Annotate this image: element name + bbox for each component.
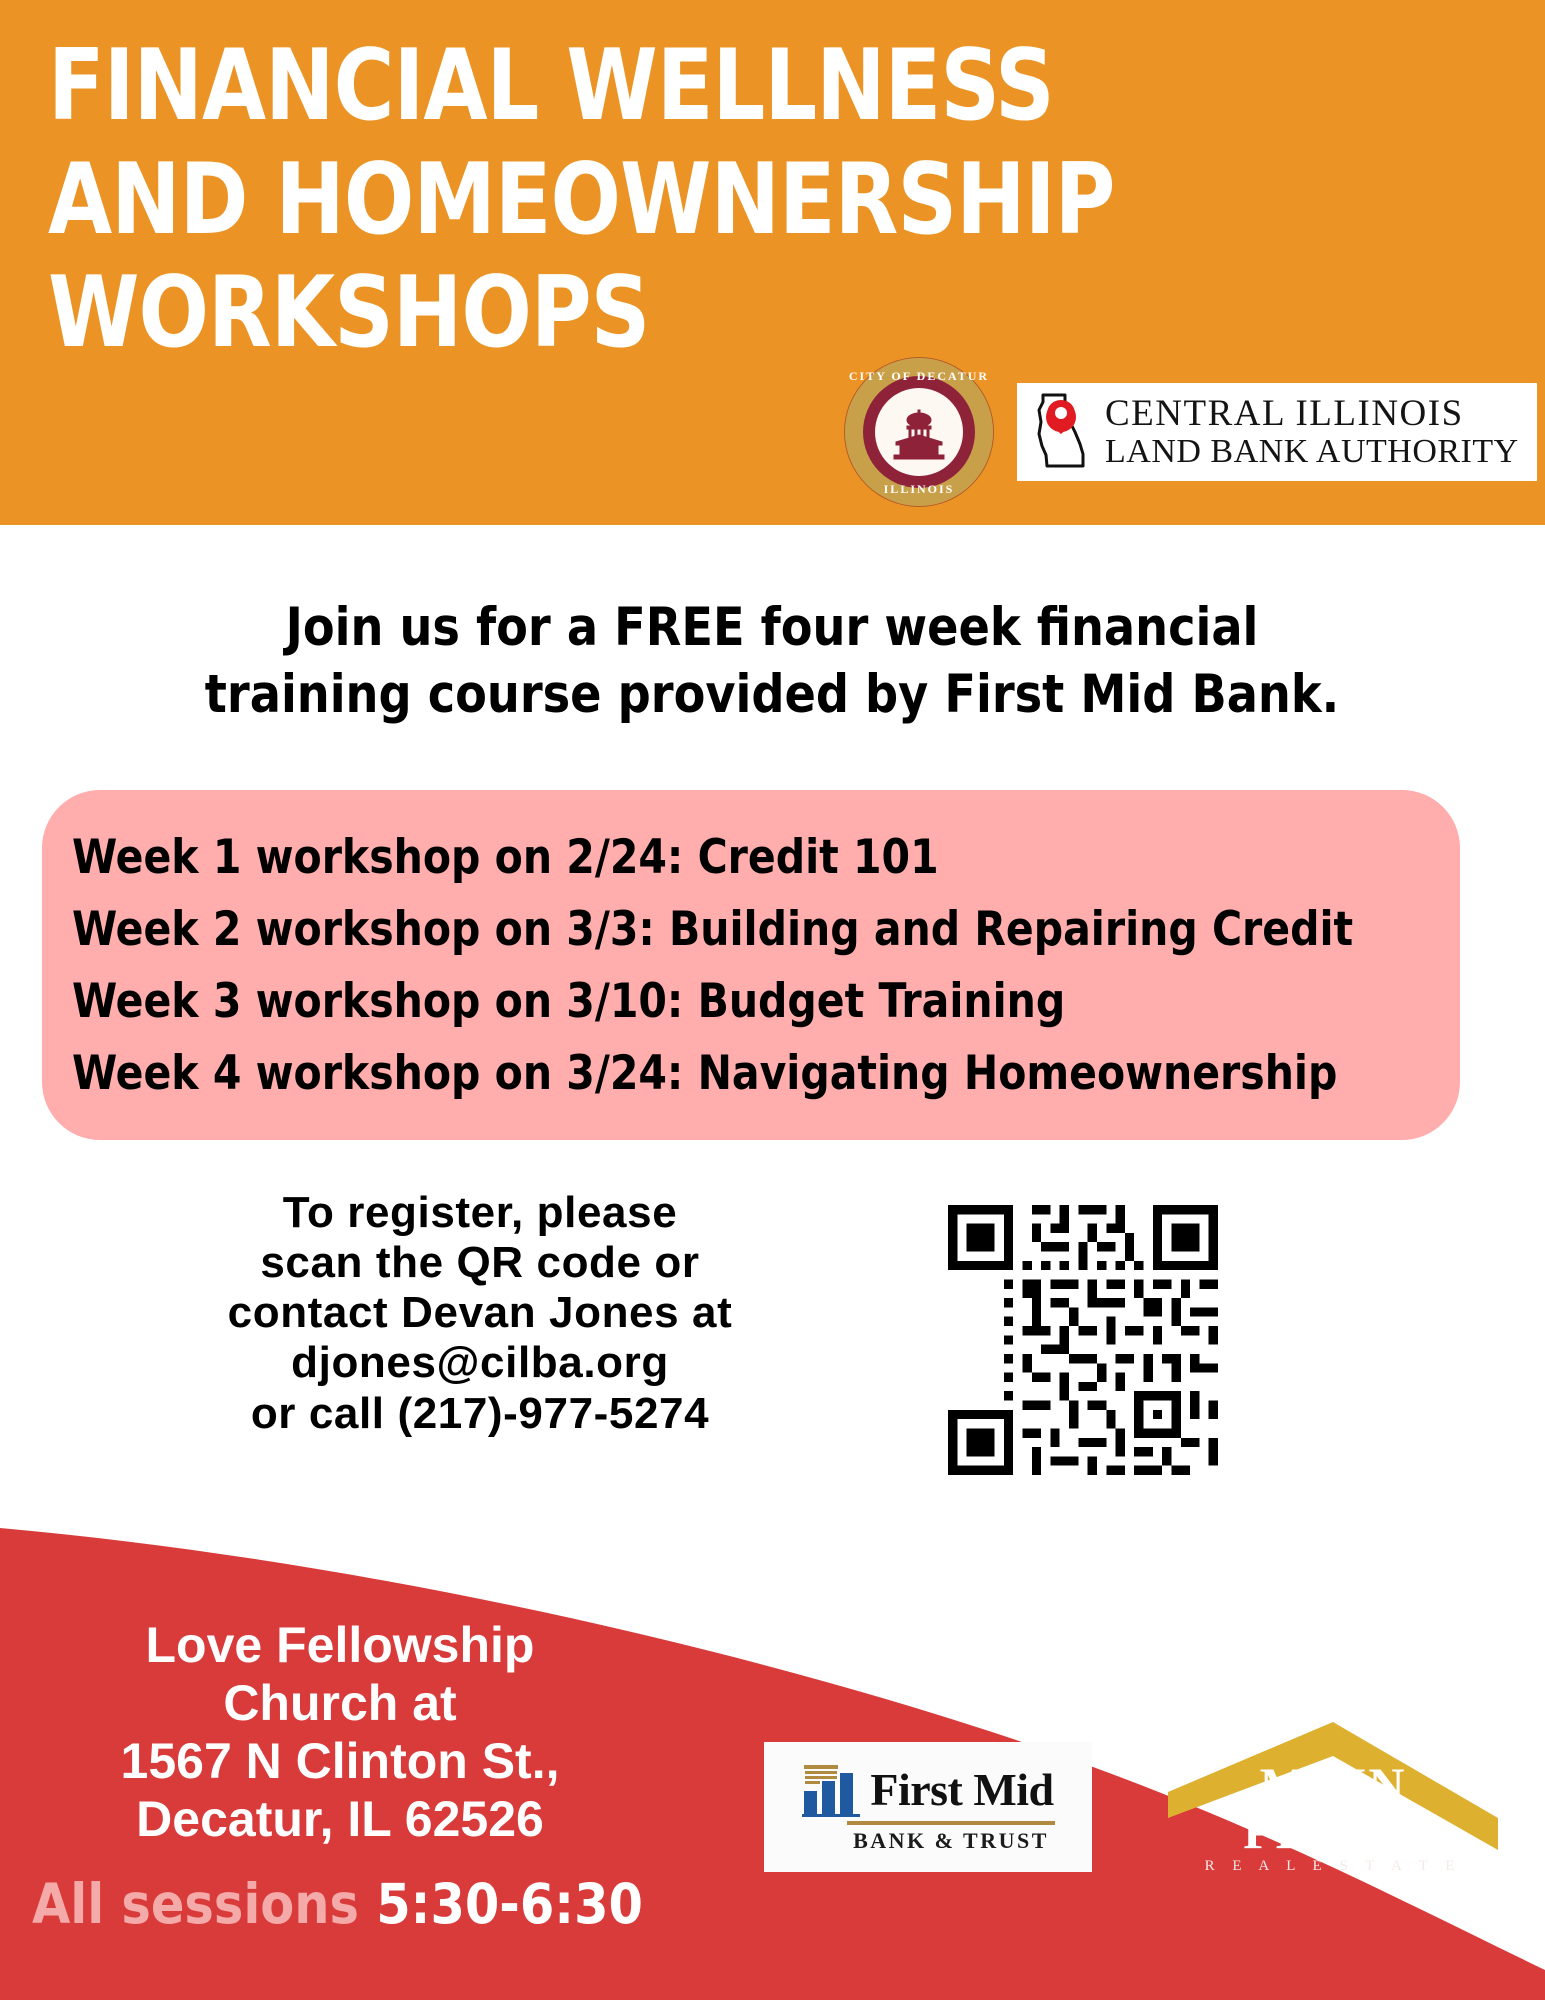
transfer-house-icon: [886, 409, 952, 461]
header-logo-group: CITY OF DECATUR ILLINOIS: [845, 358, 1537, 506]
city-of-decatur-seal-icon: CITY OF DECATUR ILLINOIS: [845, 358, 993, 506]
schedule-list: Week 1 workshop on 2/24: Credit 101 Week…: [72, 822, 1462, 1110]
main-place-line-2: PLACE: [1168, 1808, 1498, 1854]
session-time-label: All sessions: [32, 1872, 376, 1936]
venue-address: Love Fellowship Church at 1567 N Clinton…: [0, 1616, 680, 1848]
main-place-real-estate-logo: MAIN PLACE R E A L E S T A T E: [1168, 1700, 1498, 1900]
list-item: Week 4 workshop on 3/24: Navigating Home…: [72, 1038, 1420, 1110]
central-illinois-land-bank-authority-logo: CENTRAL ILLINOIS LAND BANK AUTHORITY: [1017, 383, 1537, 481]
cilba-line-2: LAND BANK AUTHORITY: [1105, 434, 1519, 471]
first-mid-wordmark-row: First Mid: [802, 1763, 1053, 1817]
main-place-line-1: MAIN: [1168, 1762, 1498, 1808]
flyer-page: FINANCIAL WELLNESS AND HOMEOWNERSHIP WOR…: [0, 0, 1545, 2000]
list-item: Week 1 workshop on 2/24: Credit 101: [72, 822, 1420, 894]
registration-instructions: To register, please scan the QR code or …: [150, 1188, 810, 1439]
seal-arc-bottom-label: ILLINOIS: [845, 482, 993, 497]
first-mid-divider: [847, 1821, 1055, 1825]
main-place-wordmark: MAIN PLACE R E A L E S T A T E: [1168, 1762, 1498, 1874]
bank-building-icon: [802, 1763, 860, 1817]
qr-code[interactable]: [948, 1205, 1218, 1475]
qr-code-icon[interactable]: [948, 1205, 1218, 1475]
cilba-line-1: CENTRAL ILLINOIS: [1105, 394, 1519, 434]
list-item: Week 2 workshop on 3/3: Building and Rep…: [72, 894, 1420, 966]
page-title: FINANCIAL WELLNESS AND HOMEOWNERSHIP WOR…: [48, 30, 1383, 371]
illinois-map-pin-icon: [1031, 392, 1093, 472]
first-mid-name: First Mid: [870, 1767, 1053, 1813]
session-time-value: 5:30-6:30: [376, 1872, 643, 1936]
seal-arc-top-label: CITY OF DECATUR: [845, 369, 993, 384]
list-item: Week 3 workshop on 3/10: Budget Training: [72, 966, 1420, 1038]
main-place-line-3: R E A L E S T A T E: [1168, 1860, 1498, 1874]
cilba-wordmark: CENTRAL ILLINOIS LAND BANK AUTHORITY: [1105, 394, 1519, 471]
intro-paragraph: Join us for a FREE four week financial t…: [93, 595, 1451, 729]
session-time: All sessions 5:30-6:30: [10, 1876, 710, 1934]
first-mid-subtitle: BANK & TRUST: [853, 1828, 1049, 1854]
first-mid-bank-and-trust-logo: First Mid BANK & TRUST: [764, 1742, 1092, 1872]
